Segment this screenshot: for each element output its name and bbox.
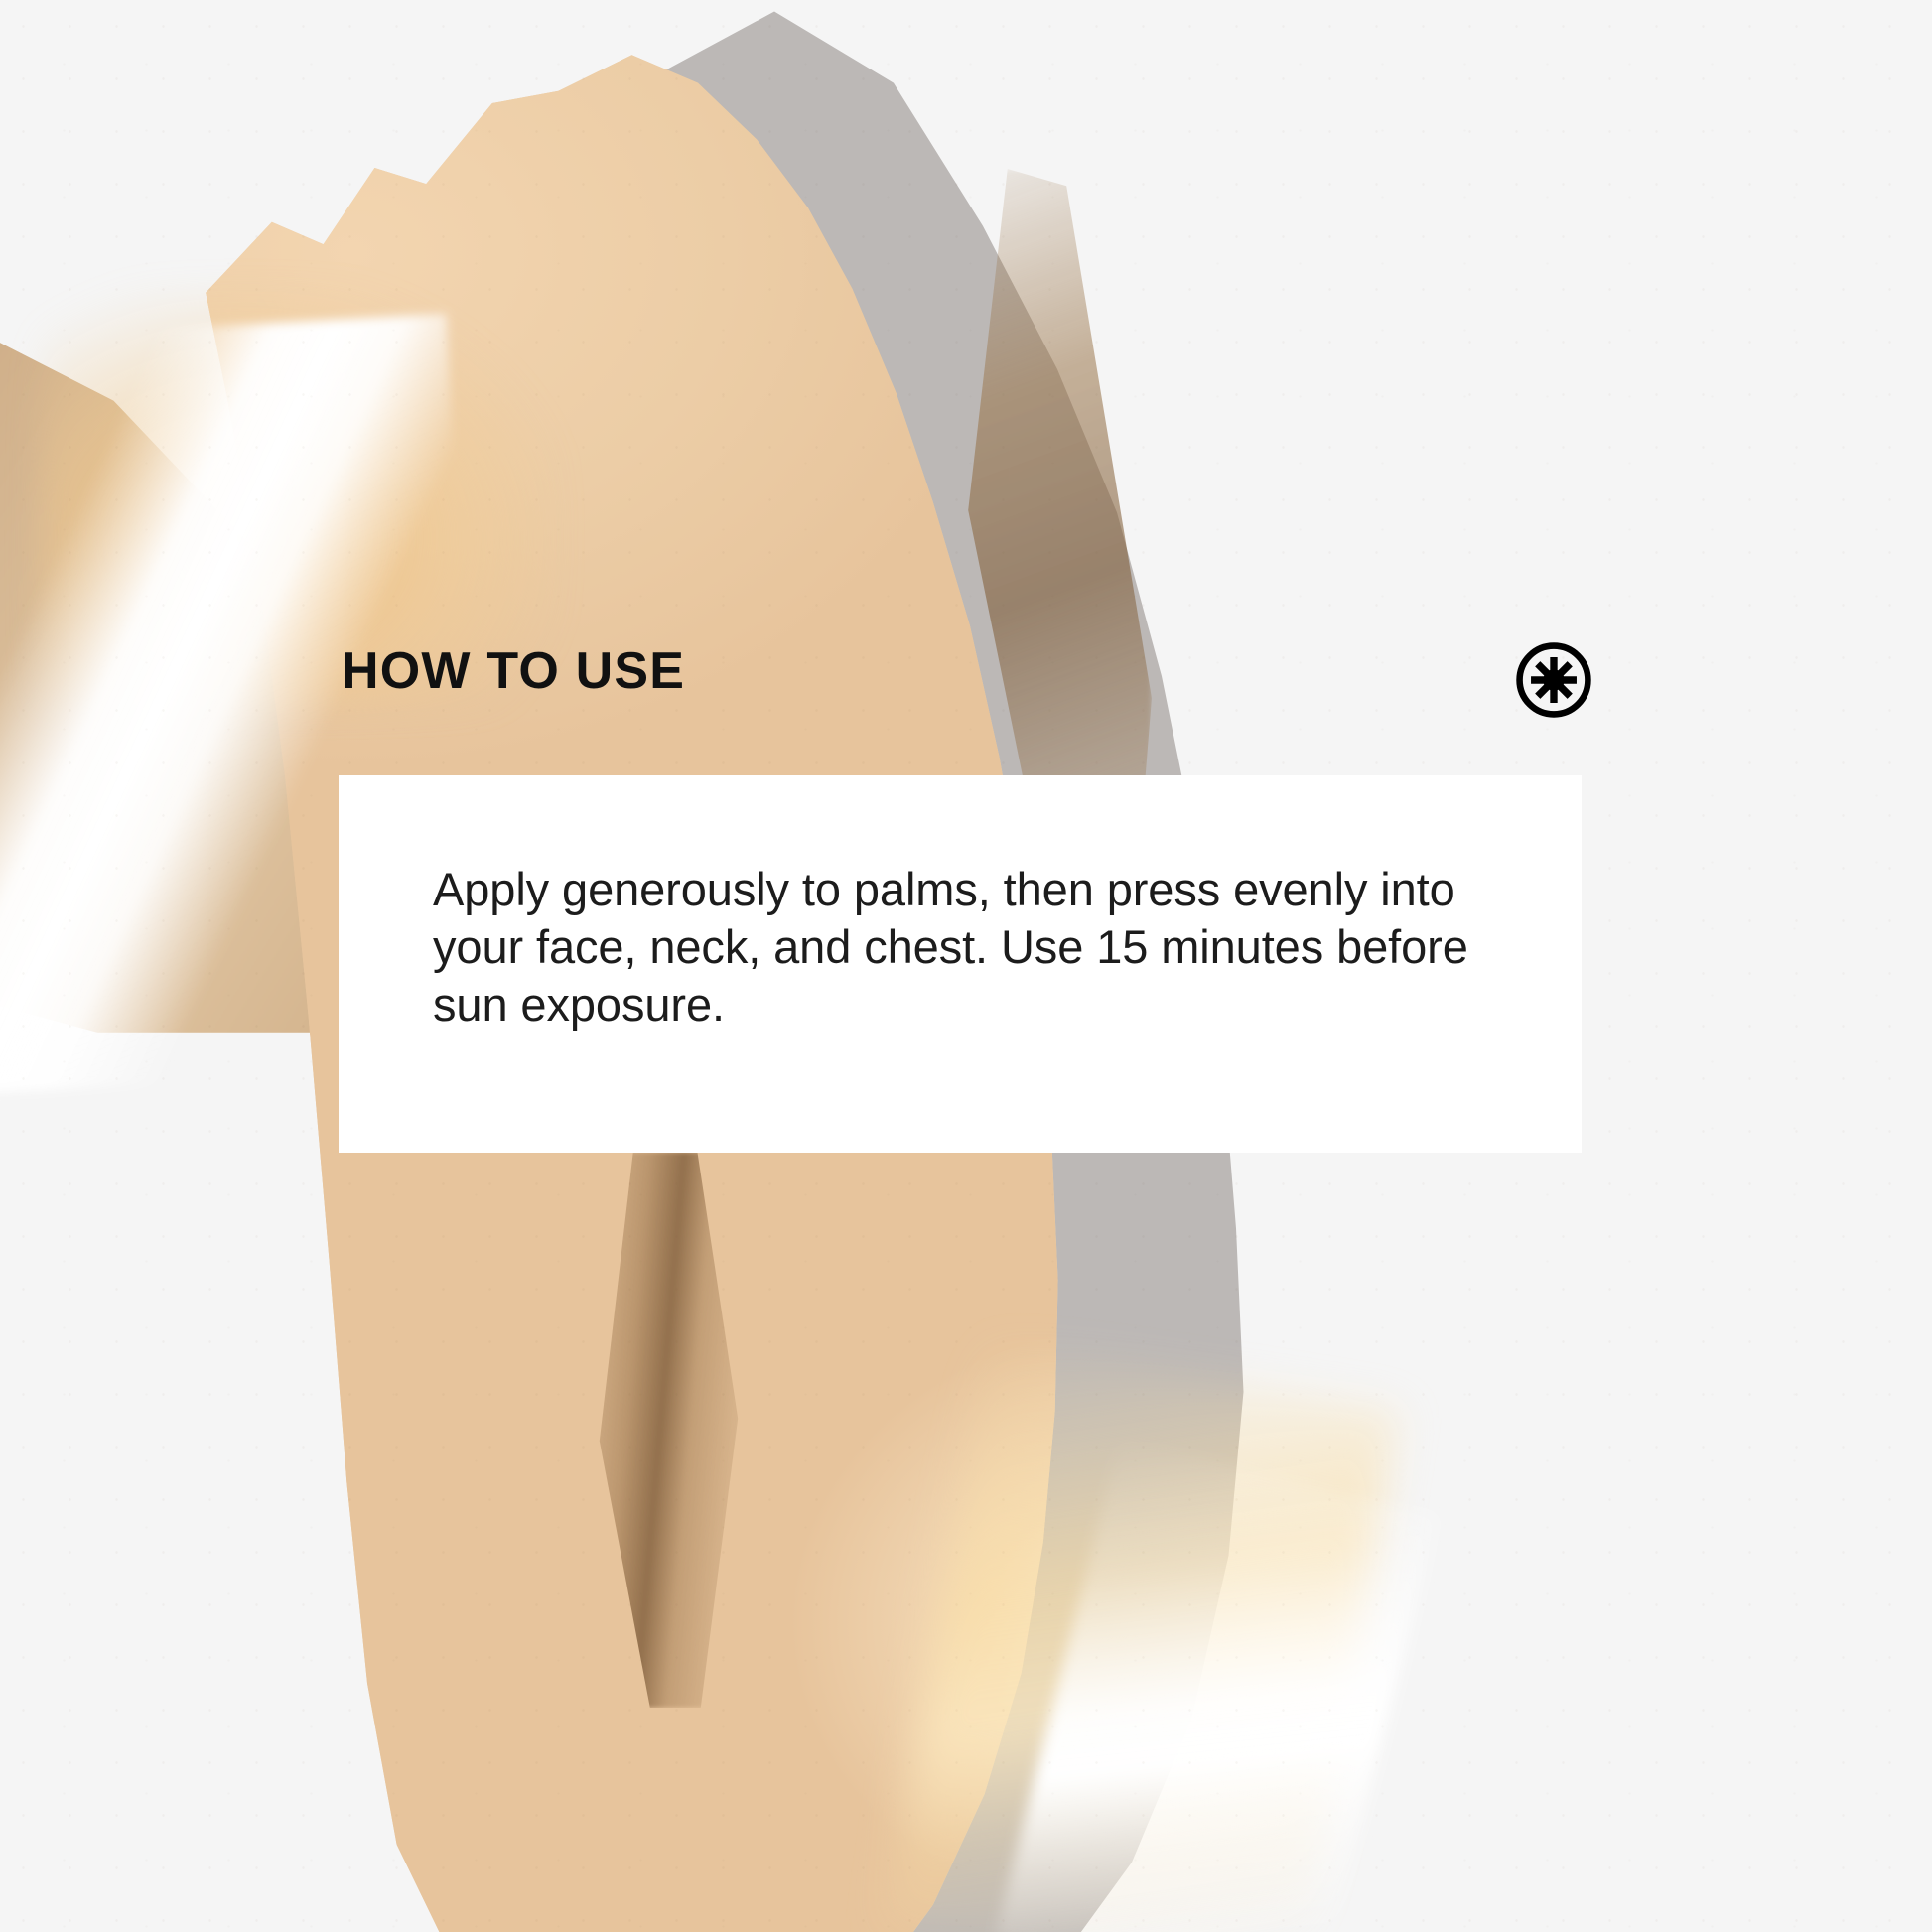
- asterisk-burst-in-circle-icon: [1513, 639, 1594, 721]
- instructions-card: Apply generously to palms, then press ev…: [339, 775, 1582, 1153]
- how-to-use-poster: HOW TO USE Apply generously to palms, th…: [0, 0, 1932, 1932]
- instructions-body-text: Apply generously to palms, then press ev…: [433, 861, 1485, 1034]
- section-heading: HOW TO USE: [342, 645, 685, 697]
